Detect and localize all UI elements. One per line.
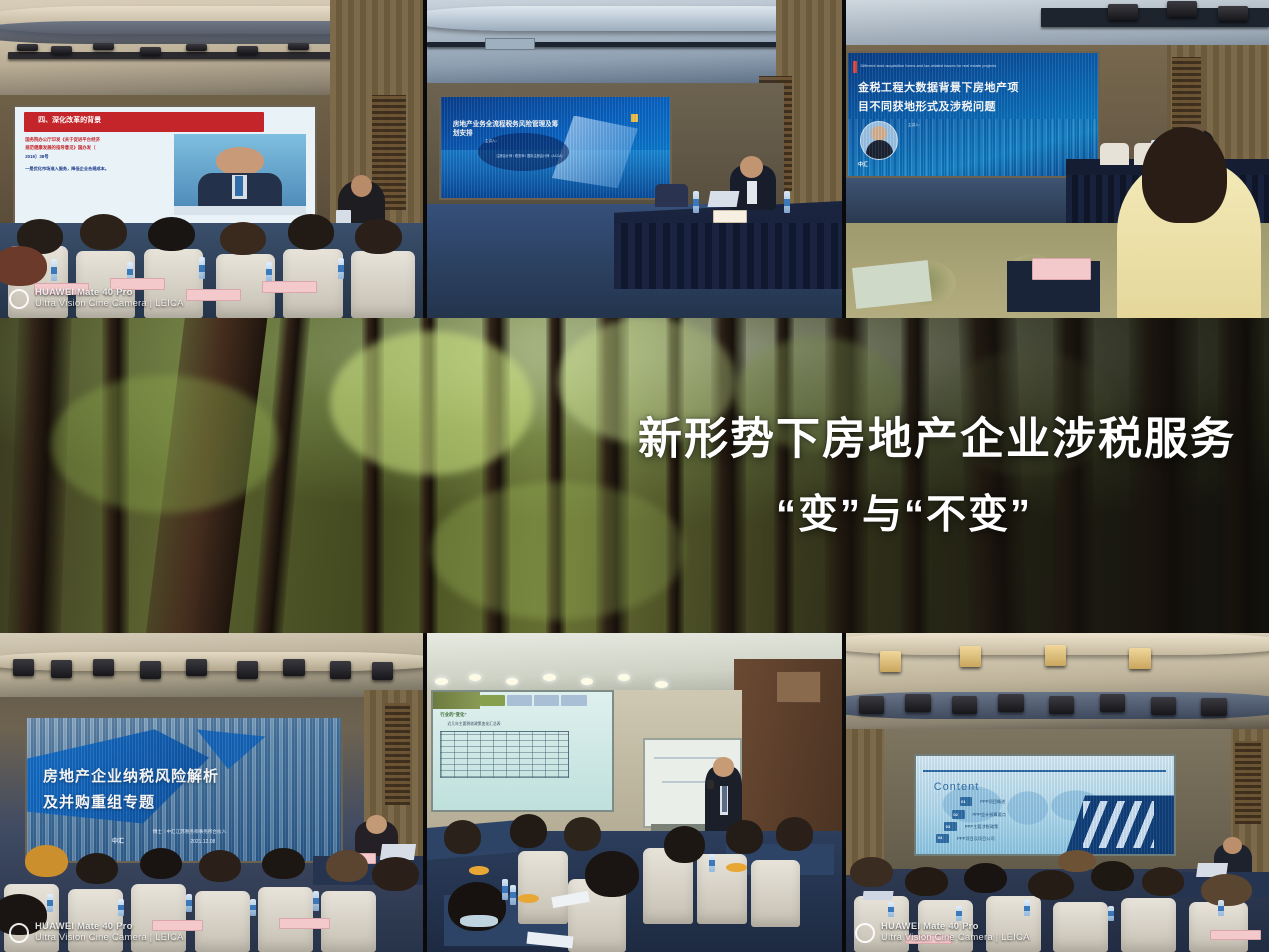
audience-head bbox=[564, 817, 601, 851]
watermark: HUAWEI Mate 40 Pro Ultra Vision Cine Cam… bbox=[9, 922, 184, 944]
ceiling-downlight bbox=[655, 681, 667, 688]
content-badge-03-number: 03 bbox=[946, 824, 950, 829]
audience-head bbox=[1058, 850, 1096, 872]
slide-title-line-1: 房地产企业纳税风险解析 bbox=[43, 765, 219, 786]
chair bbox=[1053, 902, 1108, 952]
slide-eyebrow-en: Different land acquisition forms and tax… bbox=[860, 63, 1085, 68]
photo-panel-top-middle: 房地产业务全流程税务风险管理及筹 划安排 主讲人： 注册会计师 / 税务师 / … bbox=[427, 0, 842, 318]
led-presenter-label: 主讲人： bbox=[485, 139, 499, 144]
band-title-block: 新形势下房地产企业涉税服务 “变”与“不变” bbox=[569, 411, 1269, 540]
content-badge-04-number: 04 bbox=[938, 835, 942, 840]
photo-panel-bottom-middle: 行业的“变化” 近几年主要税收政策变化汇总表 bbox=[427, 633, 842, 952]
stage-light bbox=[905, 694, 930, 711]
name-card bbox=[262, 281, 317, 293]
title-band: 新形势下房地产企业涉税服务 “变”与“不变” bbox=[0, 318, 1269, 633]
stage-light bbox=[1108, 4, 1138, 19]
water-bottle bbox=[250, 899, 256, 916]
audience-head bbox=[199, 850, 241, 882]
video-speaker-head bbox=[216, 147, 264, 175]
chair bbox=[1100, 143, 1130, 165]
stage-light bbox=[51, 46, 72, 53]
ceiling-beam bbox=[427, 42, 784, 47]
stage-light bbox=[372, 662, 393, 680]
chair bbox=[751, 860, 801, 927]
uplight bbox=[1045, 645, 1066, 665]
water-bottle bbox=[888, 902, 894, 917]
audience-head bbox=[1028, 870, 1075, 900]
water-bottle bbox=[186, 894, 192, 912]
audience-head bbox=[148, 217, 195, 252]
audience-head bbox=[262, 848, 304, 880]
leica-ring-icon bbox=[9, 923, 29, 943]
chair bbox=[1121, 898, 1176, 952]
slide-body-line-2: 规范健康发展的指导意见》国办发〔 bbox=[25, 145, 95, 151]
stage-light bbox=[1167, 1, 1197, 16]
uplight bbox=[1129, 648, 1150, 668]
content-item-02-label: PPP会计核算要点 bbox=[972, 812, 1006, 818]
slide-logo: 中汇 bbox=[858, 161, 868, 168]
water-bottle bbox=[1108, 906, 1114, 920]
handout-booklet bbox=[853, 260, 933, 309]
stage-light bbox=[237, 46, 258, 53]
water-bottle bbox=[510, 885, 516, 905]
watermark-camera: Ultra Vision Cine Camera | LEICA bbox=[35, 933, 184, 944]
content-badge-04: 04 bbox=[936, 834, 949, 843]
slide-accent-mark bbox=[853, 61, 857, 72]
speaker-portrait bbox=[860, 121, 897, 160]
water-bottle bbox=[1218, 900, 1224, 916]
audience-head bbox=[444, 820, 481, 854]
audience-head bbox=[326, 850, 368, 882]
led-screen: 房地产业务全流程税务风险管理及筹 划安排 主讲人： 注册会计师 / 税务师 / … bbox=[439, 95, 671, 200]
chair bbox=[518, 851, 568, 924]
stage-light bbox=[1201, 698, 1226, 715]
watermark: HUAWEI Mate 40 Pro Ultra Vision Cine Cam… bbox=[855, 922, 1030, 944]
uplight bbox=[960, 646, 981, 666]
content-item-03-label: PPP主要涉税政策 bbox=[965, 824, 999, 830]
slide-stripe-pattern bbox=[1083, 801, 1155, 848]
led-credentials: 注册会计师 / 税务师 / 国际注册会计师（ACCA） bbox=[496, 153, 564, 158]
slide-tab-2[interactable] bbox=[507, 695, 532, 707]
stage-light bbox=[17, 44, 38, 51]
watermark: HUAWEI Mate 40 Pro Ultra Vision Cine Cam… bbox=[9, 288, 184, 310]
ceiling-downlight bbox=[506, 678, 518, 685]
slide-title-line-2: 及并购重组专题 bbox=[43, 791, 155, 812]
audience-head bbox=[510, 814, 547, 848]
stage-light bbox=[952, 696, 977, 713]
leica-ring-icon bbox=[9, 289, 29, 309]
stage-light bbox=[1049, 696, 1074, 713]
stage-light bbox=[288, 43, 309, 50]
slide-body-line-4: 一是优化市场准入服务，降低企业合规成本。 bbox=[25, 165, 157, 172]
speaker-head bbox=[740, 156, 763, 178]
slide-title-line-2: 目不同获地形式及涉税问题 bbox=[858, 98, 996, 114]
stage-light bbox=[186, 44, 207, 51]
water-bottle bbox=[709, 854, 715, 872]
wall-vent bbox=[776, 671, 822, 703]
stage-light bbox=[998, 694, 1023, 711]
slide-title-line-1: 金税工程大数据背景下房地产项 bbox=[858, 79, 1019, 95]
screen-accent-bar bbox=[631, 114, 638, 122]
slide-tab-1[interactable] bbox=[480, 695, 505, 707]
audience-head bbox=[1142, 867, 1184, 895]
stage-light bbox=[1151, 697, 1176, 714]
photo-panel-bottom-left: 房地产企业纳税风险解析 及并购重组专题 博士｜中汇江苏税务师事务所合伙人 202… bbox=[0, 633, 423, 952]
slide-data-table bbox=[440, 731, 569, 778]
stage-light bbox=[93, 659, 114, 677]
stage-light bbox=[859, 696, 884, 713]
audience-head bbox=[220, 222, 267, 255]
led-screen: Different land acquisition forms and tax… bbox=[846, 51, 1100, 178]
laptop bbox=[708, 191, 740, 207]
slide-rule bbox=[923, 770, 1166, 772]
chair bbox=[351, 251, 414, 318]
name-card bbox=[1032, 258, 1091, 280]
band-title-line-2: “变”与“不变” bbox=[569, 488, 1239, 540]
slide-bullet-2: 近几年主要税收政策变化汇总表 bbox=[447, 722, 500, 727]
water-bottle bbox=[693, 191, 699, 213]
name-card bbox=[713, 210, 746, 223]
led-title-line-2: 划安排 bbox=[453, 127, 473, 137]
audience-head bbox=[1091, 861, 1133, 891]
watermark-camera: Ultra Vision Cine Camera | LEICA bbox=[881, 933, 1030, 944]
content-badge-02: 02 bbox=[952, 810, 965, 819]
audience-head bbox=[355, 219, 402, 254]
content-badge-01: 01 bbox=[960, 797, 973, 806]
photo-panel-bottom-right: Content 01 PPP项目概述 02 PPP会计核算要点 03 PPP主要… bbox=[846, 633, 1269, 952]
stage-light bbox=[51, 660, 72, 678]
name-card bbox=[279, 918, 330, 929]
hall-ceiling bbox=[0, 633, 423, 697]
slide-tab-3[interactable] bbox=[534, 695, 559, 707]
audience-head bbox=[76, 853, 118, 885]
projection-screen: 行业的“变化” 近几年主要税收政策变化汇总表 bbox=[431, 690, 614, 811]
water-bottle bbox=[313, 891, 319, 910]
audience-head bbox=[1201, 874, 1252, 907]
slide-corner-image bbox=[433, 692, 479, 708]
chair bbox=[655, 184, 688, 206]
slide-tabs bbox=[480, 695, 587, 707]
portrait-head bbox=[871, 126, 887, 141]
stage-light bbox=[237, 661, 258, 679]
fruit-plate bbox=[518, 894, 539, 903]
photo-collage: 四、深化改革的背景 国务院办公厅印发《关于促进平台经济 规范健康发展的指导意见》… bbox=[0, 0, 1269, 952]
audience-head bbox=[80, 214, 127, 250]
led-screen: Content 01 PPP项目概述 02 PPP会计核算要点 03 PPP主要… bbox=[914, 754, 1176, 856]
hall-ceiling bbox=[846, 633, 1269, 735]
ceiling-vent bbox=[485, 38, 535, 49]
audience-head bbox=[776, 817, 813, 851]
microphone-icon bbox=[707, 780, 714, 790]
audience-head bbox=[372, 857, 419, 891]
speaker-shirt bbox=[747, 181, 758, 203]
content-badge-01-number: 01 bbox=[961, 799, 965, 804]
audience-area bbox=[427, 799, 842, 952]
stage-light bbox=[283, 659, 304, 677]
table-skirt bbox=[614, 223, 842, 290]
ceiling-downlight bbox=[435, 678, 447, 685]
slide-bullet-1: 行业的“变化” bbox=[440, 712, 466, 718]
laptop bbox=[862, 891, 893, 900]
water-bottle bbox=[784, 191, 790, 213]
water-bottle bbox=[956, 906, 962, 920]
stage-light bbox=[1218, 6, 1248, 21]
handout-paper bbox=[526, 931, 573, 948]
content-item-04-label: PPP项目及项目公司 bbox=[957, 836, 995, 842]
slide-header-bar: 四、深化改革的背景 bbox=[24, 112, 264, 132]
band-title-line-1: 新形势下房地产企业涉税服务 bbox=[569, 411, 1269, 466]
portrait-suit bbox=[866, 140, 893, 159]
audience-head bbox=[0, 246, 47, 286]
audience-head bbox=[664, 826, 706, 863]
audience-head bbox=[288, 214, 335, 250]
standing-speaker-head bbox=[713, 757, 734, 776]
slide-tab-4[interactable] bbox=[561, 695, 586, 707]
slide-speaker-label: 主讲人： bbox=[908, 123, 922, 128]
stage-light bbox=[330, 661, 351, 679]
audience-head bbox=[140, 848, 182, 880]
water-bottle bbox=[47, 894, 53, 912]
uplight bbox=[880, 651, 901, 671]
water-bottle bbox=[51, 259, 57, 280]
water-bottle bbox=[502, 879, 508, 900]
slide-body-line-1: 国务院办公厅印发《关于促进平台经济 bbox=[25, 137, 100, 143]
water-bottle bbox=[338, 258, 344, 279]
name-card bbox=[1210, 930, 1261, 940]
water-bottle bbox=[266, 262, 272, 282]
whiteboard-mark bbox=[654, 757, 721, 759]
audience-head bbox=[585, 851, 639, 897]
watermark-camera: Ultra Vision Cine Camera | LEICA bbox=[35, 299, 184, 310]
audience-head bbox=[25, 845, 67, 877]
ceiling-downlight bbox=[581, 678, 593, 685]
photo-panel-top-right: Different land acquisition forms and tax… bbox=[846, 0, 1269, 318]
audience-head bbox=[850, 857, 892, 887]
stage-light bbox=[140, 47, 161, 54]
content-badge-03: 03 bbox=[944, 822, 957, 831]
slide-body-line-3: 2019〕38号 bbox=[25, 154, 48, 160]
foreground-attendee-head bbox=[1142, 127, 1227, 222]
water-bottle bbox=[199, 257, 205, 280]
stage-light bbox=[140, 661, 161, 679]
leica-ring-icon bbox=[855, 923, 875, 943]
slide-header-text: 四、深化改革的背景 bbox=[38, 115, 101, 125]
fruit-plate bbox=[469, 866, 490, 875]
water-bottle bbox=[1024, 900, 1030, 916]
stage-light bbox=[93, 43, 114, 50]
audience-head bbox=[726, 820, 763, 854]
stage-light bbox=[13, 659, 34, 677]
photo-panel-top-left: 四、深化改革的背景 国务院办公厅印发《关于促进平台经济 规范健康发展的指导意见》… bbox=[0, 0, 423, 318]
audience-head bbox=[964, 863, 1006, 893]
content-badge-02-number: 02 bbox=[953, 812, 957, 817]
stage-light bbox=[1100, 694, 1125, 711]
water-bottle bbox=[118, 899, 124, 916]
content-item-01-label: PPP项目概述 bbox=[980, 799, 1005, 805]
name-card bbox=[186, 289, 241, 301]
wall-grille bbox=[1235, 741, 1260, 824]
slide-heading: Content bbox=[934, 781, 980, 793]
face-mask bbox=[460, 915, 497, 927]
stage-light bbox=[186, 659, 207, 677]
wall-grille bbox=[385, 703, 410, 805]
audience-head bbox=[905, 867, 947, 895]
